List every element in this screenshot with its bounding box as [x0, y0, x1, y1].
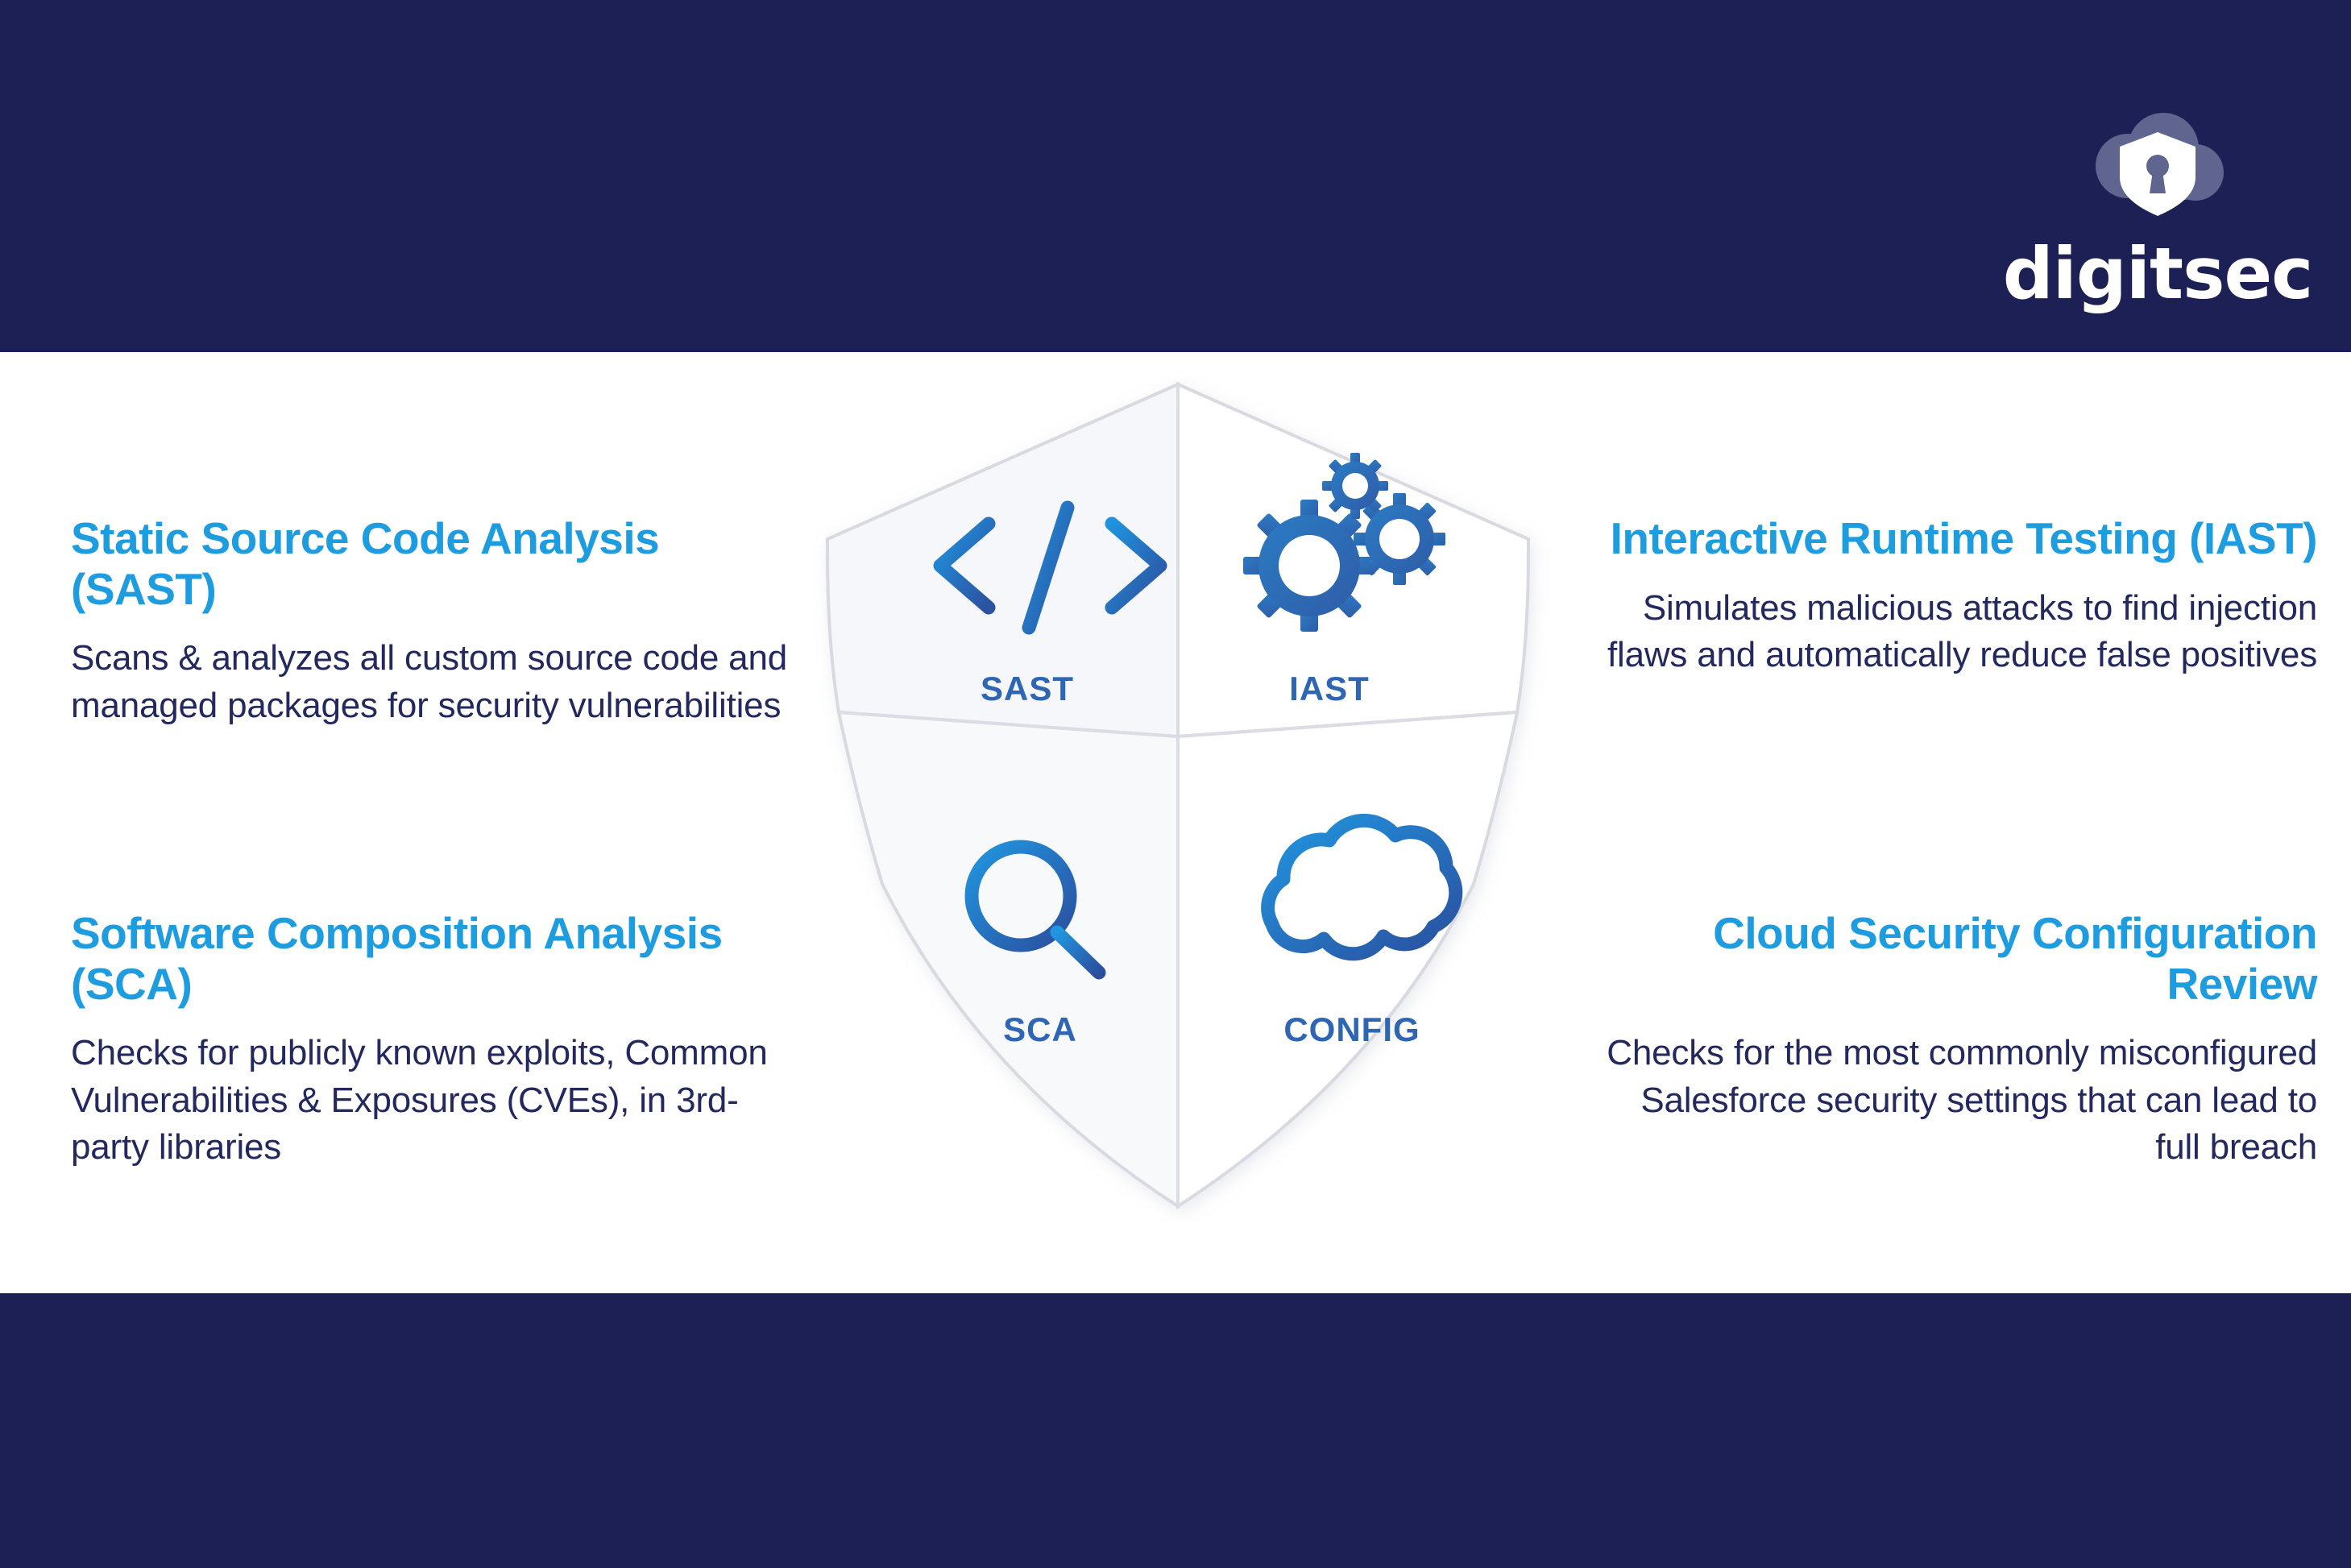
shield-label-sca: SCA — [1003, 1010, 1077, 1048]
shield-label-config: CONFIG — [1283, 1010, 1420, 1048]
feature-description-sast: Scans & analyzes all custom source code … — [71, 635, 796, 729]
feature-block-config: Cloud Security Configuration Review Chec… — [1592, 908, 2317, 1172]
feature-description-config: Checks for the most commonly misconfigur… — [1592, 1030, 2317, 1172]
cloud-shield-lock-icon — [2073, 113, 2242, 234]
security-coverage-shield: SAST — [786, 368, 1571, 1222]
feature-block-sca: Software Composition Analysis (SCA) Chec… — [71, 908, 796, 1172]
main-content-area: Static Source Code Analysis (SAST) Scans… — [0, 352, 2351, 1293]
feature-title-sca: Software Composition Analysis (SCA) — [71, 908, 796, 1009]
brand-wordmark: digitsec — [2003, 239, 2313, 309]
shield-quadrant-sca[interactable] — [839, 712, 1178, 1206]
feature-block-sast: Static Source Code Analysis (SAST) Scans… — [71, 513, 796, 729]
shield-label-sast: SAST — [981, 670, 1074, 707]
feature-block-iast: Interactive Runtime Testing (IAST) Simul… — [1592, 513, 2317, 679]
feature-title-config: Cloud Security Configuration Review — [1592, 908, 2317, 1009]
footer-band — [0, 1293, 2351, 1568]
feature-title-sast: Static Source Code Analysis (SAST) — [71, 513, 796, 614]
feature-description-iast: Simulates malicious attacks to find inje… — [1592, 585, 2317, 679]
feature-description-sca: Checks for publicly known exploits, Comm… — [71, 1030, 796, 1172]
shield-label-iast: IAST — [1289, 670, 1370, 707]
brand-logo[interactable]: digitsec — [1996, 113, 2319, 330]
feature-title-iast: Interactive Runtime Testing (IAST) — [1592, 513, 2317, 564]
